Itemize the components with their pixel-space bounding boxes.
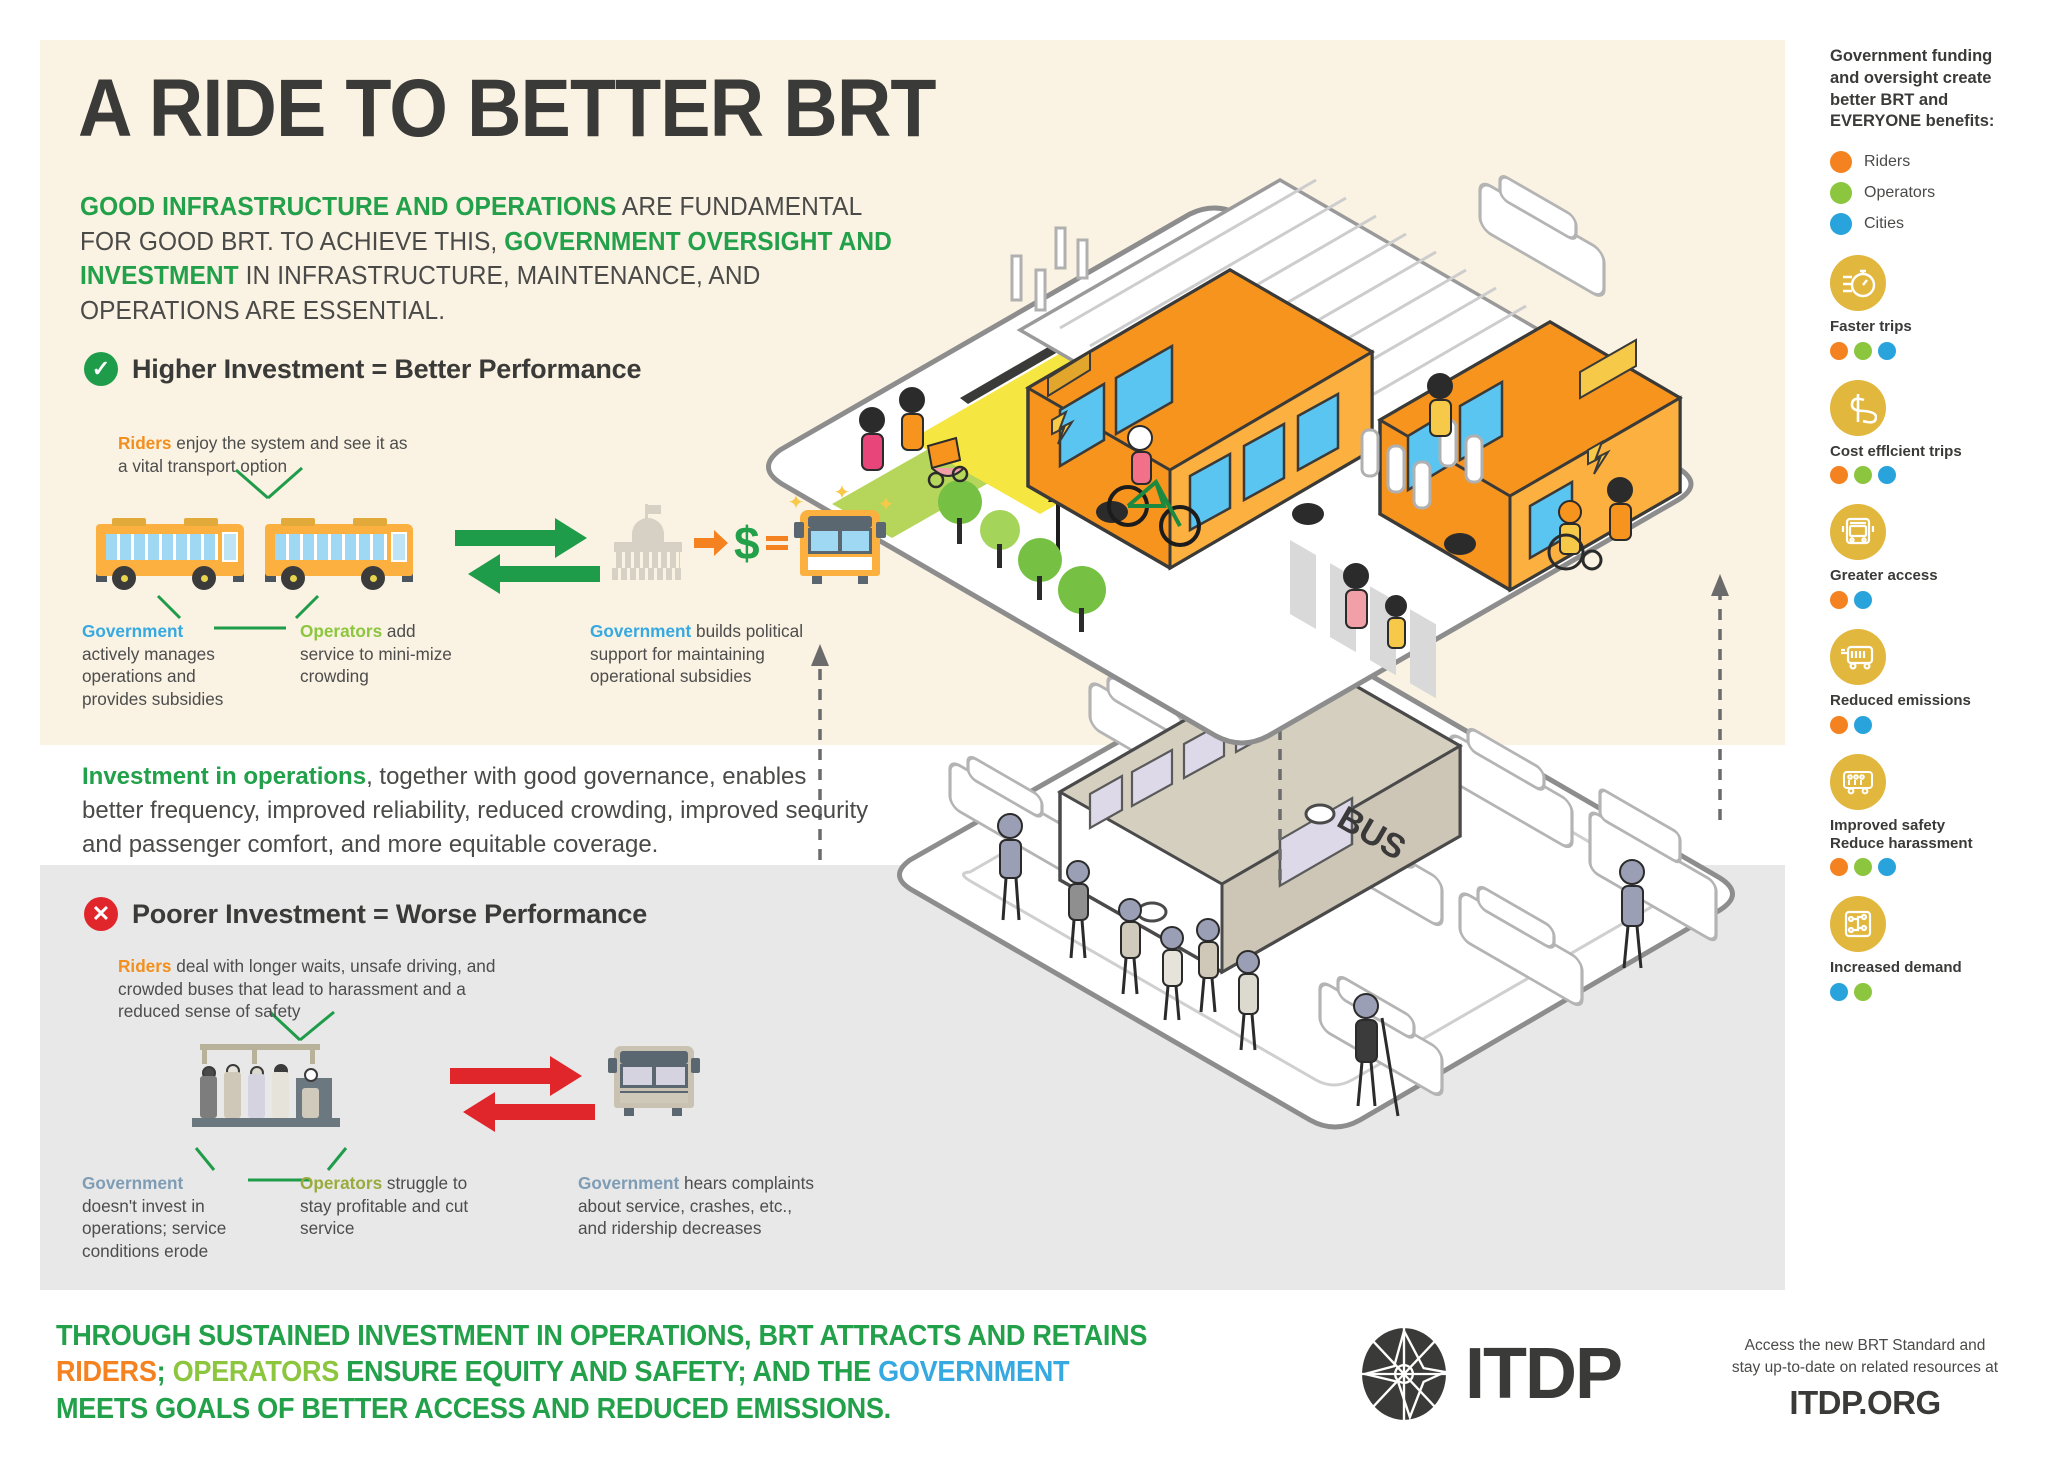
benefit-dots-reduced-emissions — [1830, 716, 2030, 734]
benefit-label-cost-efficient-trips: Cost efflcient trips — [1830, 443, 2000, 461]
legend-label-cities: Cities — [1864, 215, 1904, 233]
orange-arrow-icon — [694, 530, 728, 556]
middle-paragraph: Investment in operations, together with … — [82, 760, 872, 862]
legend-item-operators: Operators — [1830, 182, 2030, 204]
legend-dot-cities — [1830, 213, 1852, 235]
callout-government-support-label: Government — [590, 621, 691, 641]
infographic-page: BUS — [0, 0, 2048, 1459]
benefit-label-reduced-emissions: Reduced emissions — [1830, 692, 2000, 710]
shiny-bus-icon: ✦ ✦ ✦ — [794, 500, 886, 586]
benefit-label-greater-access: Greater access — [1830, 567, 2000, 585]
cross-icon: ✕ — [84, 897, 118, 931]
bottom-summary: THROUGH SUSTAINED INVESTMENT IN OPERATIO… — [56, 1318, 1149, 1427]
equals-icon — [766, 532, 788, 554]
benefit-increased-demand: Increased demand — [1830, 896, 2030, 1001]
government-funding-group: $ ✦ ✦ ✦ — [608, 500, 886, 586]
dollar-icon — [1830, 380, 1886, 436]
intro-highlight-1: GOOD INFRASTRUCTURE AND OPERATIONS — [80, 193, 616, 221]
dollar-icon: $ — [734, 520, 760, 566]
good-brt-scene — [768, 162, 1691, 743]
benefit-dots-increased-demand — [1830, 983, 2030, 1001]
good-section-title: Higher Investment = Better Performance — [132, 354, 641, 385]
itdp-url[interactable]: ITDP.ORG — [1700, 1384, 2030, 1422]
benefit-reduced-emissions: Reduced emissions — [1830, 629, 2030, 734]
callout-riders-good-label: Riders — [118, 433, 172, 453]
stopwatch-icon — [1830, 255, 1886, 311]
benefit-faster-trips: Faster trips — [1830, 255, 2030, 360]
green-exchange-arrows — [455, 508, 600, 594]
damaged-bus-icon — [608, 1040, 700, 1120]
callout-riders-bad: Riders deal with longer waits, unsafe dr… — [118, 955, 508, 1023]
benefit-cost-efficient-trips: Cost efflcient trips — [1830, 380, 2030, 485]
callout-operators-good: Operators add service to mini-mize crowd… — [300, 620, 460, 688]
legend-item-riders: Riders — [1830, 151, 2030, 173]
benefit-label-improved-safety: Improved safety Reduce harassment — [1830, 817, 2000, 852]
electric-bus-icon — [1830, 629, 1886, 685]
capitol-icon — [608, 504, 688, 582]
bottom-operators: OPERATORS — [173, 1356, 339, 1388]
bad-section-header: ✕ Poorer Investment = Worse Performance — [84, 897, 647, 931]
bus-passengers-icon — [1830, 754, 1886, 810]
good-section-header: ✓ Higher Investment = Better Performance — [84, 352, 641, 386]
access-line-2: stay up-to-date on related resources at — [1700, 1357, 2030, 1379]
access-line-1: Access the new BRT Standard and — [1700, 1335, 2030, 1357]
page-title: A RIDE TO BETTER BRT — [78, 62, 936, 156]
benefit-label-increased-demand: Increased demand — [1830, 959, 2000, 977]
itdp-wordmark: ITDP — [1465, 1338, 1621, 1410]
itdp-wheel-logo — [1355, 1325, 1453, 1423]
benefit-dots-cost-efficient-trips — [1830, 466, 2030, 484]
network-icon — [1830, 896, 1886, 952]
callout-riders-good: Riders enjoy the system and see it as a … — [118, 432, 418, 477]
legend-label-operators: Operators — [1864, 184, 1935, 202]
bottom-government: GOVERNMENT — [878, 1356, 1069, 1388]
benefit-dots-improved-safety — [1830, 858, 2030, 876]
callout-riders-bad-text: deal with longer waits, unsafe driving, … — [118, 956, 495, 1021]
good-bus-1 — [96, 512, 251, 590]
callout-government-complaints: Government hears complaints about servic… — [578, 1172, 818, 1240]
callout-government-good: Governmentactively manages operations an… — [82, 620, 242, 711]
bottom-seg-4: MEETS GOALS OF BETTER ACCESS AND REDUCED… — [56, 1393, 891, 1425]
bottom-riders: RIDERS — [56, 1356, 157, 1388]
callout-operators-bad-label: Operators — [300, 1173, 382, 1193]
bus-front-icon — [1830, 504, 1886, 560]
bad-section-title: Poorer Investment = Worse Performance — [132, 899, 647, 930]
crowded-bus-interior-icon — [192, 1040, 342, 1132]
callout-government-bad: Governmentdoesn't invest in operations; … — [82, 1172, 252, 1263]
benefit-label-faster-trips: Faster trips — [1830, 318, 2000, 336]
benefit-greater-access: Greater access — [1830, 504, 2030, 609]
callout-riders-bad-label: Riders — [118, 956, 172, 976]
callout-government-bad-label: Government — [82, 1173, 183, 1193]
legend-dot-riders — [1830, 151, 1852, 173]
callout-operators-good-label: Operators — [300, 621, 382, 641]
red-exchange-arrows — [450, 1046, 595, 1132]
callout-government-support: Government builds political support for … — [590, 620, 840, 688]
bottom-seg-2: ; — [157, 1356, 173, 1388]
sidebar-title: Government funding and oversight create … — [1830, 46, 2010, 133]
benefit-improved-safety: Improved safety Reduce harassment — [1830, 754, 2030, 876]
callout-government-good-text: actively manages operations and provides… — [82, 644, 223, 709]
benefit-dots-faster-trips — [1830, 342, 2030, 360]
benefits-sidebar: Government funding and oversight create … — [1830, 46, 2030, 1001]
intro-paragraph: GOOD INFRASTRUCTURE AND OPERATIONS ARE F… — [80, 190, 906, 329]
callout-operators-bad: Operators struggle to stay profitable an… — [300, 1172, 480, 1240]
bottom-seg-1: THROUGH SUSTAINED INVESTMENT IN OPERATIO… — [56, 1320, 1147, 1352]
legend-dot-operators — [1830, 182, 1852, 204]
isometric-brt-illustration: BUS — [760, 120, 1820, 1320]
legend-item-cities: Cities — [1830, 213, 2030, 235]
good-bus-2 — [265, 512, 420, 590]
access-info: Access the new BRT Standard and stay up-… — [1700, 1335, 2030, 1422]
callout-government-bad-text: doesn't invest in operations; service co… — [82, 1196, 226, 1261]
callout-government-good-label: Government — [82, 621, 183, 641]
bottom-seg-3: ENSURE EQUITY AND SAFETY; AND THE — [339, 1356, 878, 1388]
check-icon: ✓ — [84, 352, 118, 386]
callout-government-complaints-label: Government — [578, 1173, 679, 1193]
legend-label-riders: Riders — [1864, 153, 1910, 171]
benefit-dots-greater-access — [1830, 591, 2030, 609]
middle-paragraph-bold: Investment in operations — [82, 763, 366, 790]
itdp-branding[interactable]: ITDP — [1355, 1325, 1621, 1423]
